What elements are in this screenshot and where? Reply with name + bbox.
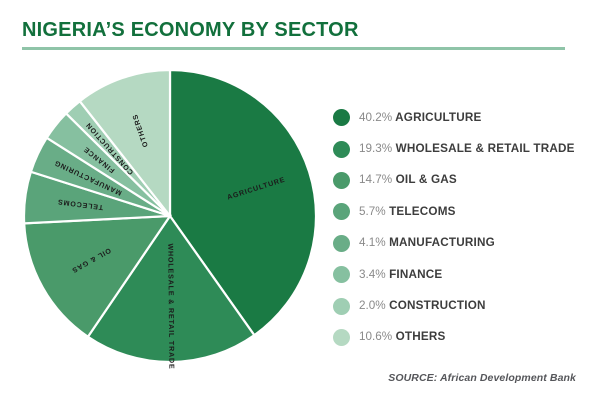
pie-chart-svg: AGRICULTUREWHOLESALE & RETAIL TRADEOIL &… <box>0 58 330 378</box>
legend-label: 5.7% TELECOMS <box>359 205 456 219</box>
legend-percent: 2.0% <box>359 299 386 312</box>
legend-sector-name: CONSTRUCTION <box>386 299 486 312</box>
legend: 40.2% AGRICULTURE19.3% WHOLESALE & RETAI… <box>333 102 595 353</box>
legend-item[interactable]: 2.0% CONSTRUCTION <box>333 290 595 321</box>
source-attribution: SOURCE: African Development Bank <box>388 372 576 384</box>
legend-percent: 4.1% <box>359 236 386 249</box>
legend-sector-name: OTHERS <box>392 330 445 343</box>
legend-sector-name: FINANCE <box>386 268 443 281</box>
legend-sector-name: MANUFACTURING <box>386 236 495 249</box>
pie-slice-label: WHOLESALE & RETAIL TRADE <box>166 243 175 369</box>
title-divider <box>22 47 565 50</box>
legend-item[interactable]: 19.3% WHOLESALE & RETAIL TRADE <box>333 133 595 164</box>
legend-label: 10.6% OTHERS <box>359 330 446 344</box>
legend-percent: 19.3% <box>359 142 392 155</box>
legend-sector-name: WHOLESALE & RETAIL TRADE <box>392 142 574 155</box>
legend-color-swatch <box>333 109 350 126</box>
legend-item[interactable]: 3.4% FINANCE <box>333 259 595 290</box>
legend-color-swatch <box>333 141 350 158</box>
legend-color-swatch <box>333 329 350 346</box>
legend-item[interactable]: 5.7% TELECOMS <box>333 196 595 227</box>
legend-percent: 14.7% <box>359 173 392 186</box>
legend-percent: 10.6% <box>359 330 392 343</box>
legend-color-swatch <box>333 203 350 220</box>
legend-label: 19.3% WHOLESALE & RETAIL TRADE <box>359 142 575 156</box>
legend-label: 3.4% FINANCE <box>359 268 442 282</box>
legend-label: 40.2% AGRICULTURE <box>359 111 482 125</box>
legend-item[interactable]: 40.2% AGRICULTURE <box>333 102 595 133</box>
legend-item[interactable]: 4.1% MANUFACTURING <box>333 228 595 259</box>
legend-color-swatch <box>333 298 350 315</box>
legend-sector-name: OIL & GAS <box>392 173 457 186</box>
legend-percent: 5.7% <box>359 205 386 218</box>
legend-color-swatch <box>333 172 350 189</box>
legend-label: 4.1% MANUFACTURING <box>359 236 495 250</box>
legend-percent: 3.4% <box>359 268 386 281</box>
legend-label: 2.0% CONSTRUCTION <box>359 299 486 313</box>
legend-color-swatch <box>333 235 350 252</box>
legend-item[interactable]: 10.6% OTHERS <box>333 322 595 353</box>
legend-sector-name: TELECOMS <box>386 205 456 218</box>
page-title: NIGERIA’S ECONOMY BY SECTOR <box>22 18 566 42</box>
legend-label: 14.7% OIL & GAS <box>359 173 457 187</box>
legend-item[interactable]: 14.7% OIL & GAS <box>333 165 595 196</box>
header: NIGERIA’S ECONOMY BY SECTOR <box>22 18 566 50</box>
legend-percent: 40.2% <box>359 111 392 124</box>
legend-color-swatch <box>333 266 350 283</box>
legend-sector-name: AGRICULTURE <box>392 111 481 124</box>
pie-chart: AGRICULTUREWHOLESALE & RETAIL TRADEOIL &… <box>0 58 330 378</box>
